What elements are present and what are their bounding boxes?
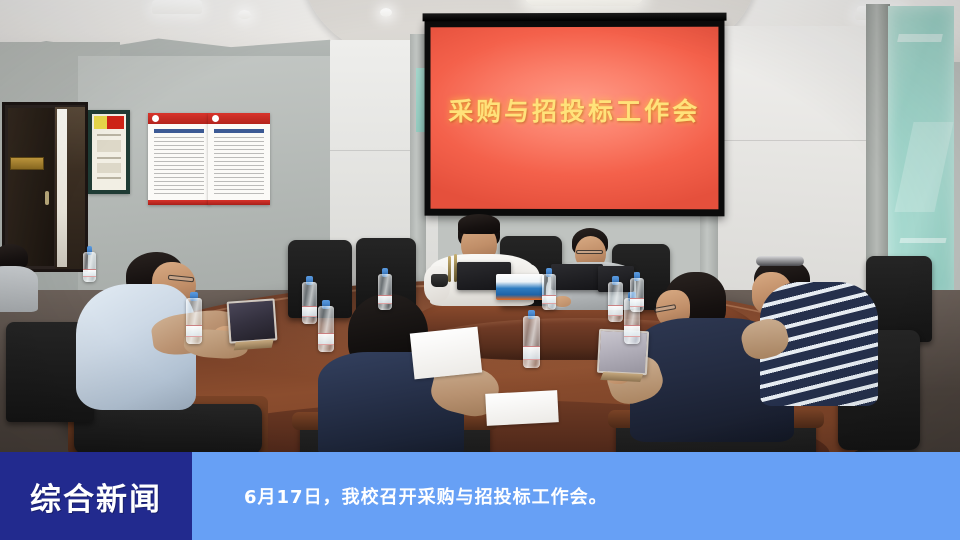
water-bottle-3[interactable] xyxy=(378,268,392,310)
projector-screen-surface: 采购与招投标工作会 xyxy=(431,27,719,210)
water-bottle-3-body xyxy=(378,274,392,310)
water-bottle-4[interactable] xyxy=(542,268,556,310)
poster-footer-1 xyxy=(148,200,210,205)
ceiling-light-1 xyxy=(152,0,202,14)
marble-seam-1 xyxy=(714,140,874,141)
water-bottle-10-label xyxy=(83,269,96,277)
framed-certificate xyxy=(88,110,130,194)
glass-reflection-2 xyxy=(894,122,953,212)
water-bottle-1-label xyxy=(302,306,317,317)
poster-logo-icon-2 xyxy=(212,115,219,122)
door-panel xyxy=(8,108,54,266)
certificate-header xyxy=(94,116,124,129)
water-bottle-2-label xyxy=(318,333,334,345)
attendee-striped-polo-sunglasses-icon xyxy=(756,256,804,266)
water-bottle-5-body xyxy=(523,316,540,368)
caption-text: 6月17日，我校召开采购与招投标工作会。 xyxy=(244,483,608,509)
caption-category-tag: 综合新闻 xyxy=(0,452,192,540)
poster-header-2 xyxy=(208,113,270,124)
projector-screen-housing xyxy=(423,13,727,22)
water-bottle-10[interactable] xyxy=(83,246,96,282)
tablet-left[interactable] xyxy=(227,298,278,343)
poster-header-1 xyxy=(148,113,210,124)
projector-screen: 采购与招投标工作会 xyxy=(425,20,725,217)
microphone-1 xyxy=(448,256,451,282)
water-bottle-5-label xyxy=(523,346,540,360)
ceiling-downlight-1 xyxy=(238,10,251,19)
water-bottle-8[interactable] xyxy=(630,272,644,312)
certificate-block-2 xyxy=(97,163,121,173)
door-handle-icon[interactable] xyxy=(45,191,49,205)
poster-title-1 xyxy=(154,129,204,133)
water-bottle-8-label xyxy=(630,298,644,307)
paper-held xyxy=(410,327,482,380)
water-bottle-5[interactable] xyxy=(523,310,540,368)
poster-body-2 xyxy=(214,137,264,195)
door-nameplate xyxy=(10,157,44,170)
water-bottle-2[interactable] xyxy=(318,300,334,352)
water-bottle-1[interactable] xyxy=(302,276,317,324)
water-bottle-7-label xyxy=(624,325,640,337)
water-bottle-9-body xyxy=(186,298,202,344)
water-bottle-4-label xyxy=(542,295,556,304)
tablet-left-screen xyxy=(227,298,278,343)
certificate-line-2 xyxy=(97,157,121,159)
desk-cup-1 xyxy=(431,274,448,287)
water-bottle-4-body xyxy=(542,274,556,310)
attendee-gray-shirt-hand xyxy=(554,296,571,307)
caption-bar: 综合新闻 6月17日，我校召开采购与招投标工作会。 xyxy=(0,452,960,540)
attendee-background-left-torso xyxy=(0,266,38,312)
certificate-line-1 xyxy=(97,134,121,136)
ceiling-light-2 xyxy=(524,0,644,6)
water-bottle-2-body xyxy=(318,306,334,352)
glass-reflection-3 xyxy=(899,238,946,243)
laptop-2 xyxy=(551,264,603,290)
ceiling-downlight-2 xyxy=(380,8,392,17)
tablet-right-screen xyxy=(597,329,649,376)
water-bottle-6[interactable] xyxy=(608,276,623,322)
water-bottle-1-body xyxy=(302,282,317,324)
chair-left-seat[interactable] xyxy=(74,404,262,454)
poster-title-2 xyxy=(214,129,264,133)
water-bottle-8-body xyxy=(630,278,644,312)
certificate-line-3 xyxy=(97,177,121,179)
tablet-right[interactable] xyxy=(597,329,649,376)
poster-logo-icon-1 xyxy=(152,115,159,122)
water-bottle-10-body xyxy=(83,252,96,282)
caption-category-label: 综合新闻 xyxy=(30,474,162,519)
tissue-box xyxy=(496,274,544,300)
water-bottle-6-body xyxy=(608,282,623,322)
caption-body: 6月17日，我校召开采购与招投标工作会。 xyxy=(192,452,960,540)
door-light-edge xyxy=(57,109,67,267)
water-bottle-9-label xyxy=(186,325,202,337)
water-bottle-6-label xyxy=(608,305,623,315)
poster-body-1 xyxy=(154,137,204,195)
attendee-white-shirt-hair-top xyxy=(458,214,500,234)
notice-poster-2 xyxy=(208,113,270,205)
glass-reflection-1 xyxy=(897,34,943,42)
water-bottle-9[interactable] xyxy=(186,292,202,344)
paper-on-table xyxy=(485,390,559,426)
notice-poster-1 xyxy=(148,113,210,205)
attendee-gray-shirt-glasses-icon xyxy=(576,250,603,254)
poster-footer-2 xyxy=(208,200,270,205)
news-photo: 采购与招投标工作会 xyxy=(0,0,960,540)
certificate-block-1 xyxy=(97,140,121,152)
slide-title: 采购与招投标工作会 xyxy=(448,92,700,128)
water-bottle-3-label xyxy=(378,295,392,304)
